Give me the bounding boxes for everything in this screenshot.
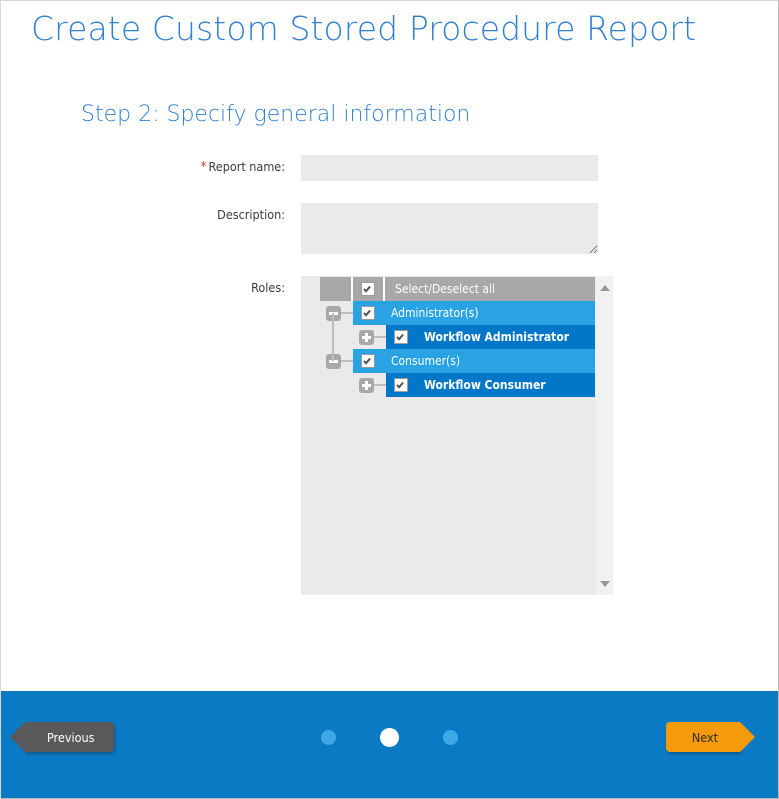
tree-row[interactable]: Workflow Consumer bbox=[320, 373, 595, 397]
tree-connector-vertical bbox=[332, 349, 334, 361]
step-dot-1[interactable] bbox=[321, 730, 336, 745]
role-checkbox[interactable] bbox=[361, 306, 375, 320]
report-name-label: *Report name: bbox=[1, 155, 301, 175]
role-label: Consumer(s) bbox=[383, 354, 460, 368]
report-name-label-text: Report name: bbox=[209, 159, 285, 174]
expand-plus-icon[interactable] bbox=[359, 330, 374, 345]
select-all-checkbox-cell[interactable] bbox=[353, 277, 383, 301]
tree-row-body[interactable]: Administrator(s) bbox=[353, 301, 595, 325]
step-dot-3[interactable] bbox=[443, 730, 458, 745]
tree-connector-line bbox=[374, 336, 386, 338]
tree-row[interactable]: Consumer(s) bbox=[320, 349, 595, 373]
wizard-body: Step 2: Specify general information *Rep… bbox=[1, 67, 778, 691]
role-checkbox[interactable] bbox=[394, 378, 408, 392]
description-textarea[interactable] bbox=[301, 203, 598, 254]
roles-label: Roles: bbox=[1, 276, 301, 295]
tree-row-body[interactable]: Consumer(s) bbox=[353, 349, 595, 373]
report-name-input[interactable] bbox=[301, 155, 598, 181]
role-label: Workflow Consumer bbox=[416, 378, 546, 392]
form-area: *Report name: Description: Roles: bbox=[1, 155, 778, 595]
wizard-window: Create Custom Stored Procedure Report St… bbox=[0, 0, 779, 799]
tree-gutter bbox=[320, 301, 353, 325]
tree-row[interactable]: Workflow Administrator bbox=[320, 325, 595, 349]
expand-plus-icon[interactable] bbox=[359, 378, 374, 393]
role-checkbox[interactable] bbox=[361, 354, 375, 368]
tree-connector-line bbox=[341, 360, 353, 362]
role-checkbox[interactable] bbox=[394, 330, 408, 344]
tree-connector-line bbox=[341, 312, 353, 314]
select-all-checkbox[interactable] bbox=[361, 282, 375, 296]
tree-gutter bbox=[320, 325, 353, 349]
form-row-description: Description: bbox=[1, 203, 778, 254]
role-label: Administrator(s) bbox=[383, 306, 479, 320]
step-indicator bbox=[1, 728, 778, 747]
tree-connector-vertical bbox=[332, 313, 334, 325]
role-checkbox-cell[interactable] bbox=[353, 349, 383, 373]
tree-row-body[interactable]: Workflow Administrator bbox=[386, 325, 595, 349]
description-label: Description: bbox=[1, 203, 301, 222]
tree-gutter-inner bbox=[353, 373, 386, 397]
role-label: Workflow Administrator bbox=[416, 330, 569, 344]
step-heading: Step 2: Specify general information bbox=[81, 102, 470, 127]
tree-gutter bbox=[320, 373, 353, 397]
tree-connector-vertical bbox=[332, 325, 334, 349]
scroll-down-icon[interactable] bbox=[596, 575, 613, 592]
required-marker-icon: * bbox=[201, 160, 207, 175]
tree-header-gutter bbox=[320, 277, 351, 301]
roles-tree: Select/Deselect all bbox=[320, 277, 595, 397]
tree-gutter-inner bbox=[353, 325, 386, 349]
select-all-label: Select/Deselect all bbox=[385, 277, 595, 301]
tree-header-row: Select/Deselect all bbox=[320, 277, 595, 301]
tree-row[interactable]: Administrator(s) bbox=[320, 301, 595, 325]
role-checkbox-cell[interactable] bbox=[386, 325, 416, 349]
tree-row-body[interactable]: Workflow Consumer bbox=[386, 373, 595, 397]
form-row-report-name: *Report name: bbox=[1, 155, 778, 181]
step-dot-2[interactable] bbox=[380, 728, 399, 747]
role-checkbox-cell[interactable] bbox=[386, 373, 416, 397]
tree-gutter bbox=[320, 349, 353, 373]
wizard-header: Create Custom Stored Procedure Report bbox=[1, 1, 778, 67]
roles-vertical-scrollbar[interactable] bbox=[596, 276, 613, 595]
role-checkbox-cell[interactable] bbox=[353, 301, 383, 325]
next-button[interactable]: Next bbox=[666, 722, 740, 752]
tree-connector-line bbox=[374, 384, 386, 386]
scroll-up-icon[interactable] bbox=[596, 279, 613, 296]
page-title: Create Custom Stored Procedure Report bbox=[31, 9, 696, 48]
wizard-footer: Previous Next bbox=[1, 691, 778, 798]
form-row-roles: Roles: Select/Deselect all bbox=[1, 276, 778, 595]
roles-tree-panel: Select/Deselect all bbox=[301, 276, 613, 595]
